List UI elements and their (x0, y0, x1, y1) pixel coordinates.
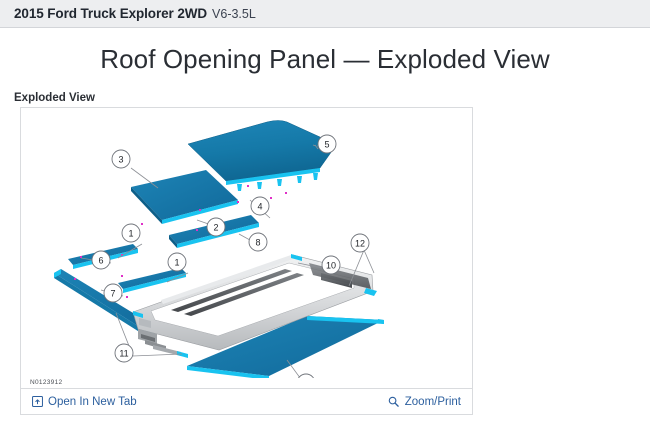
illustration-panel: 5342181261107119 N0123912 Open In New Ta… (20, 107, 473, 415)
callout-9[interactable]: 9 (297, 374, 315, 378)
callout-8[interactable]: 8 (249, 233, 267, 251)
svg-text:3: 3 (118, 155, 123, 165)
vehicle-name: 2015 Ford Truck Explorer 2WD (14, 6, 207, 21)
callout-1a[interactable]: 1 (122, 224, 140, 242)
callout-4[interactable]: 4 (251, 197, 269, 215)
svg-text:7: 7 (110, 289, 115, 299)
callout-12[interactable]: 12 (351, 234, 369, 252)
svg-text:6: 6 (98, 256, 103, 266)
zoom-print-label: Zoom/Print (405, 396, 461, 408)
svg-text:1: 1 (128, 229, 133, 239)
svg-text:11: 11 (119, 349, 128, 359)
open-in-new-tab-link[interactable]: Open In New Tab (31, 396, 137, 408)
callout-10[interactable]: 10 (322, 256, 340, 274)
exploded-view-illustration[interactable]: 5342181261107119 (21, 108, 472, 378)
callout-11[interactable]: 11 (115, 344, 133, 362)
part-3-sunshade-panel (131, 170, 238, 224)
svg-text:5: 5 (324, 140, 329, 150)
callout-2[interactable]: 2 (207, 218, 225, 236)
svg-text:10: 10 (326, 261, 336, 271)
callout-3[interactable]: 3 (112, 150, 130, 168)
callout-6[interactable]: 6 (92, 251, 110, 269)
magnifier-icon (388, 396, 400, 408)
callout-7[interactable]: 7 (104, 284, 122, 302)
callout-1b[interactable]: 1 (168, 253, 186, 271)
callout-5[interactable]: 5 (318, 135, 336, 153)
illustration-action-bar: Open In New Tab Zoom/Print (21, 388, 472, 414)
page-title: Roof Opening Panel — Exploded View (0, 44, 650, 75)
section-label: Exploded View (14, 92, 650, 104)
svg-text:12: 12 (355, 239, 365, 249)
open-in-new-tab-label: Open In New Tab (48, 396, 137, 408)
vehicle-header: 2015 Ford Truck Explorer 2WD V6-3.5L (0, 0, 650, 28)
svg-text:8: 8 (255, 238, 260, 248)
svg-text:2: 2 (213, 223, 218, 233)
svg-text:1: 1 (174, 258, 179, 268)
exploded-diagram-svg: 5342181261107119 (21, 108, 472, 378)
external-window-icon (31, 396, 43, 408)
svg-text:4: 4 (257, 202, 262, 212)
part-1b-seal-strip (118, 268, 186, 293)
zoom-print-link[interactable]: Zoom/Print (388, 396, 461, 408)
vehicle-engine: V6-3.5L (212, 7, 256, 21)
diagram-id: N0123912 (30, 379, 62, 386)
